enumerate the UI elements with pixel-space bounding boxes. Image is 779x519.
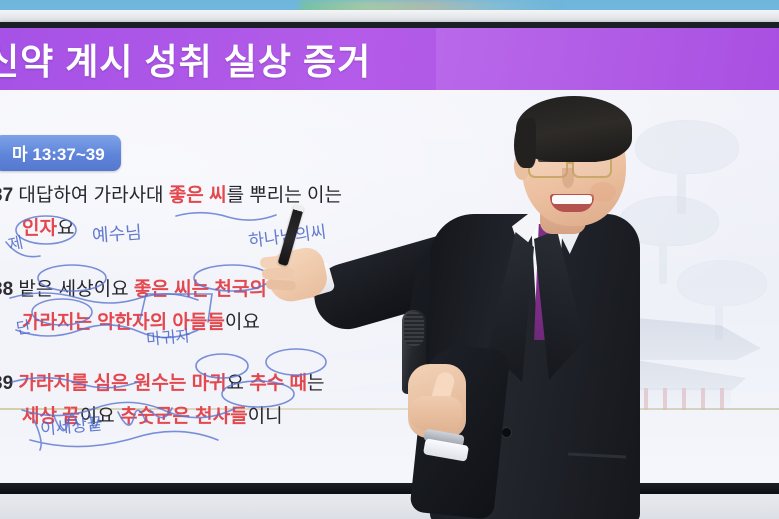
- handwriting-jesus: 예수님: [91, 218, 142, 247]
- verse-highlight: 가라지는 악한자의 아들들: [22, 312, 225, 333]
- teeth: [552, 195, 592, 204]
- cheek: [590, 182, 616, 202]
- suit-button: [502, 428, 511, 437]
- presenter: [372, 96, 702, 519]
- verse-highlight: 추수 때: [249, 373, 307, 394]
- nose: [562, 168, 574, 188]
- verse-text: 이니: [248, 406, 283, 427]
- verse-text: 요: [57, 218, 74, 239]
- verse-highlight: 좋은 씨: [169, 185, 227, 206]
- eyeglasses-bridge: [568, 162, 574, 164]
- slide-title-bar: 신약 계시 성취 실상 증거: [0, 28, 779, 90]
- finger: [262, 267, 294, 279]
- handwriting-devil: 마귀자: [145, 322, 191, 350]
- verse-number: 37: [0, 185, 18, 206]
- handwriting-bottom: 이세상끝: [39, 409, 104, 439]
- verse-highlight: 추숫군은 천사들: [120, 406, 248, 427]
- verse-text: 이요: [225, 312, 260, 333]
- verse-text: 를 뿌리는 이는: [227, 185, 342, 206]
- verse-text: 세상: [59, 279, 94, 300]
- verse-highlight: 좋은 씨는: [134, 279, 214, 300]
- verse-text: 요: [227, 373, 250, 394]
- microphone-grille: [404, 312, 424, 346]
- mouth: [550, 194, 594, 212]
- verse-text: 대답하여 가라사대: [18, 185, 168, 206]
- verse-reference-badge: 마 13:37~39: [0, 135, 121, 171]
- finger: [266, 279, 297, 291]
- knuckles: [410, 396, 462, 430]
- verse-text: 이요: [94, 279, 134, 300]
- verse-number: 39: [0, 373, 18, 394]
- handwriting-dan: 단: [14, 313, 32, 339]
- hair-sideburn: [514, 118, 536, 168]
- verse-highlight: 가라지를 심은 원수는 마귀: [18, 373, 226, 394]
- verse-text: 밭은: [18, 279, 58, 300]
- verse-number: 38: [0, 279, 18, 300]
- slide-title: 신약 계시 성취 실상 증거: [0, 33, 371, 85]
- verse-highlight: 인자: [22, 218, 57, 239]
- verse-text: 는: [307, 373, 324, 394]
